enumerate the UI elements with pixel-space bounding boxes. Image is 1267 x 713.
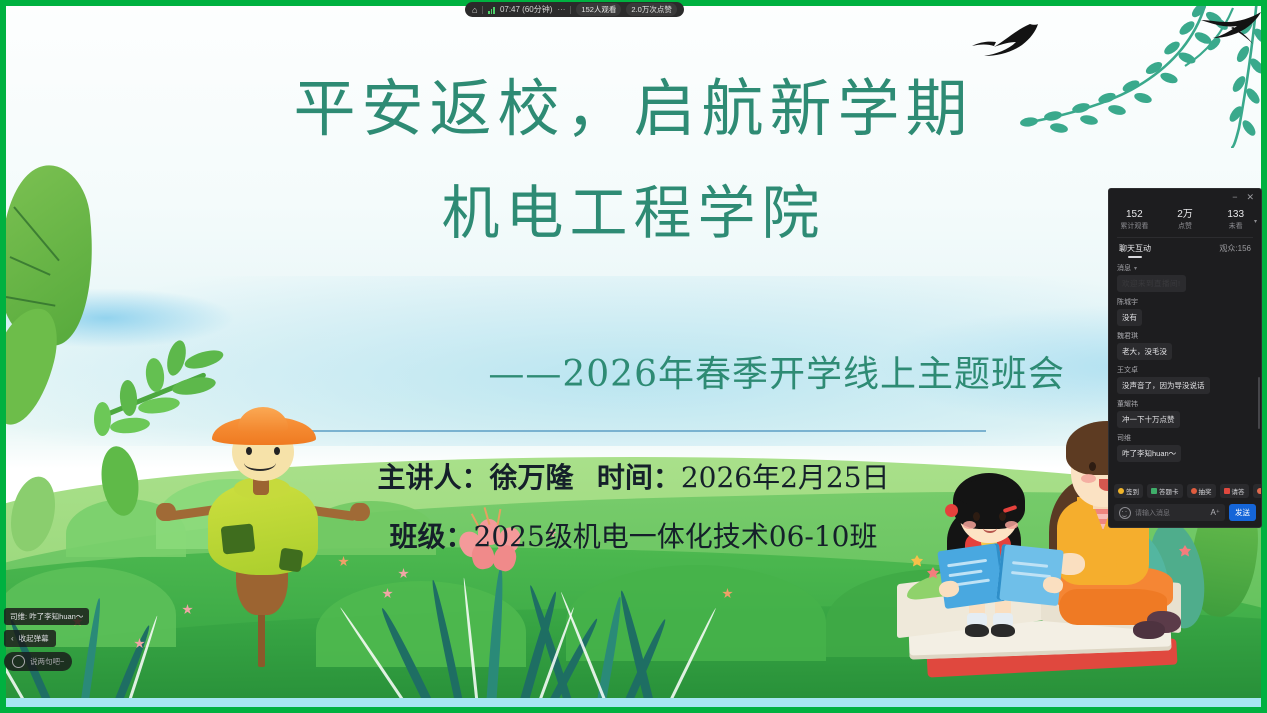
page-title: 平安返校，启航新学期 <box>6 58 1261 148</box>
close-icon[interactable]: ✕ <box>1246 193 1254 202</box>
child-shoe <box>965 624 989 637</box>
tab-audience[interactable]: 观众:156 <box>1219 243 1251 254</box>
child-shoe <box>991 624 1015 637</box>
chat-input-placeholder: 请输入消息 <box>1135 508 1170 518</box>
more-icon <box>1257 488 1262 494</box>
hand-icon <box>1224 488 1230 494</box>
chat-message: 消息 ▾ 欢迎来到直播间! <box>1117 263 1253 292</box>
home-icon[interactable]: ⌂ <box>472 5 477 15</box>
minimize-icon[interactable]: − <box>1232 193 1237 202</box>
scarecrow-eye <box>274 447 280 455</box>
tool-label: 答题卡 <box>1159 486 1179 496</box>
divider <box>570 6 571 14</box>
chat-message-text: 咋了李知huan～ <box>1117 445 1181 462</box>
card-icon <box>1151 488 1157 494</box>
chat-message-text: 没声音了，因为导没说话 <box>1117 377 1210 394</box>
chat-message-text: 冲一下十万点赞 <box>1117 411 1180 428</box>
chat-message-sender: 陈城宇 <box>1117 297 1253 307</box>
font-size-icon[interactable]: A⁺ <box>1210 508 1220 517</box>
child-blush <box>1005 521 1018 529</box>
child-mouth <box>983 523 997 533</box>
tool-more-button[interactable] <box>1253 484 1262 498</box>
scarecrow-patch <box>279 548 304 573</box>
scarecrow-patch <box>221 523 256 554</box>
chat-tabs: 聊天互动 观众:156 <box>1109 238 1261 257</box>
class-label: 班级： <box>390 520 474 553</box>
chat-message-text: 欢迎来到直播间! <box>1117 275 1186 292</box>
speaker-name: 徐万隆 <box>489 461 573 494</box>
chat-stats: 152 累计观看 2万 点赞 133 未看 ▾ <box>1109 205 1261 237</box>
teacher-eye <box>1089 462 1096 471</box>
elapsed-time: 07:47 (60分钟) <box>500 4 552 15</box>
emoji-icon[interactable] <box>1119 507 1131 519</box>
pin-icon <box>1118 488 1124 494</box>
scarecrow-eye <box>246 447 252 455</box>
viewer-count: 152人观看 <box>576 3 621 16</box>
swallow-icon <box>1191 12 1261 57</box>
stat-value: 2万 <box>1160 208 1211 222</box>
tool-signin-button[interactable]: 签到 <box>1114 484 1143 498</box>
collapse-danmaku-label: 收起弹幕 <box>19 633 49 644</box>
tool-ask-button[interactable]: 请答 <box>1220 484 1249 498</box>
live-status-bar: ⌂ 07:47 (60分钟) ⋯ 152人观看 2.0万次点赞 <box>465 2 684 17</box>
bottom-strip <box>6 698 1261 707</box>
gift-icon <box>1191 488 1197 494</box>
chat-message: 魏君琪 老大，没毛没 <box>1117 331 1253 360</box>
scarecrow-figure <box>174 417 354 667</box>
stat-label: 点赞 <box>1160 222 1211 232</box>
scarecrow-hand-left <box>156 503 176 521</box>
divider <box>482 6 483 14</box>
chat-input-row: 请输入消息 A⁺ 发送 <box>1109 501 1261 527</box>
small-flower <box>911 555 923 567</box>
chat-toolbar: 签到 答题卡 抽奖 请答 <box>1109 479 1261 501</box>
danmaku-message: 司维: 咋了李知huan～ <box>4 608 89 625</box>
danmaku-overlay: 司维: 咋了李知huan～ ‹ 收起弹幕 说两句吧~ <box>4 608 89 671</box>
danmaku-input[interactable]: 说两句吧~ <box>4 652 72 671</box>
child-hair-bobble <box>945 504 958 517</box>
signal-bars-icon <box>488 6 495 14</box>
chat-message-sender: 司维 <box>1117 433 1253 443</box>
chat-message-text: 老大，没毛没 <box>1117 343 1172 360</box>
speaker-label: 主讲人： <box>377 461 489 494</box>
tool-label: 请答 <box>1232 486 1245 496</box>
stat-item: 152 累计观看 <box>1109 208 1160 231</box>
danmaku-input-placeholder: 说两句吧~ <box>30 656 64 667</box>
tab-chat-interaction[interactable]: 聊天互动 <box>1119 243 1151 254</box>
chevron-left-icon: ‹ <box>11 634 14 643</box>
presentation-slide: 平安返校，启航新学期 机电工程学院 ——2026年春季开学线上主题班会 主讲人：… <box>6 6 1261 707</box>
tool-lottery-button[interactable]: 抽奖 <box>1187 484 1216 498</box>
scarecrow-hand-right <box>350 503 370 521</box>
chevron-down-icon[interactable]: ▾ <box>1134 265 1137 272</box>
chat-window-titlebar: − ✕ <box>1109 189 1261 205</box>
stat-label: 累计观看 <box>1109 222 1160 232</box>
time-value: 2026年2月25日 <box>681 461 890 494</box>
sender-name: 消息 <box>1117 263 1131 273</box>
more-dots-icon[interactable]: ⋯ <box>557 5 565 14</box>
held-book-left <box>937 543 1006 609</box>
chat-message: 陈城宇 没有 <box>1117 297 1253 326</box>
like-count: 2.0万次点赞 <box>626 3 676 16</box>
child-eye <box>999 512 1006 521</box>
collapse-danmaku-button[interactable]: ‹ 收起弹幕 <box>4 630 56 647</box>
tool-answer-card-button[interactable]: 答题卡 <box>1147 484 1183 498</box>
chat-message-text: 没有 <box>1117 309 1142 326</box>
teacher-blush <box>1081 474 1096 483</box>
chat-message-sender: 消息 ▾ <box>1117 263 1253 273</box>
tool-label: 签到 <box>1126 486 1139 496</box>
chat-input-box[interactable]: 请输入消息 A⁺ <box>1114 504 1225 521</box>
chat-message: 董耀祎 冲一下十万点赞 <box>1117 399 1253 428</box>
child-blush <box>963 521 976 529</box>
time-label: 时间： <box>597 461 681 494</box>
chat-message-sender: 魏君琪 <box>1117 331 1253 341</box>
tool-label: 抽奖 <box>1199 486 1212 496</box>
page-subtitle: ——2026年春季开学线上主题班会 <box>488 345 1065 397</box>
scarecrow-mouth <box>244 455 276 471</box>
chat-message: 司维 咋了李知huan～ <box>1117 433 1253 462</box>
chevron-down-icon[interactable]: ▾ <box>1254 218 1257 225</box>
emoji-icon[interactable] <box>12 655 25 668</box>
teacher-shoe <box>1133 621 1165 639</box>
stat-item: 2万 点赞 <box>1160 208 1211 231</box>
class-value: 2025级机电一体化技术06-10班 <box>474 520 878 553</box>
screen-root: 平安返校，启航新学期 机电工程学院 ——2026年春季开学线上主题班会 主讲人：… <box>0 0 1267 713</box>
child-eye <box>973 512 980 521</box>
live-chat-panel[interactable]: − ✕ 152 累计观看 2万 点赞 133 未看 ▾ 聊天互动 观众:156 <box>1108 188 1262 528</box>
chat-message-list[interactable]: 消息 ▾ 欢迎来到直播间! 陈城宇 没有 魏君琪 老大，没毛没 王文卓 没声音了… <box>1109 257 1261 479</box>
chat-scrollbar[interactable] <box>1258 377 1260 429</box>
page-subtitle-org: 机电工程学院 <box>6 166 1261 250</box>
chat-message: 王文卓 没声音了，因为导没说话 <box>1117 365 1253 394</box>
held-book-right <box>996 544 1064 606</box>
divider <box>296 430 986 432</box>
child-bangs <box>959 479 1019 505</box>
chat-message-sender: 董耀祎 <box>1117 399 1253 409</box>
stat-item: 133 未看 ▾ <box>1210 208 1261 231</box>
send-button[interactable]: 发送 <box>1229 504 1256 521</box>
stat-value: 152 <box>1109 208 1160 222</box>
chat-message-sender: 王文卓 <box>1117 365 1253 375</box>
